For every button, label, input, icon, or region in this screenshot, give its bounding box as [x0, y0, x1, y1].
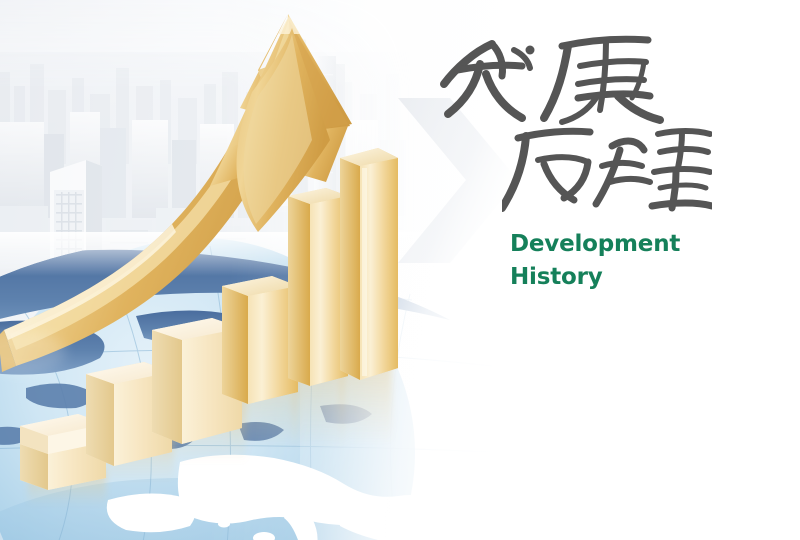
- chinese-title-line-2: [502, 120, 730, 216]
- bar-5: [288, 188, 348, 386]
- english-title-line-2: History: [510, 261, 730, 294]
- english-title: Development History: [510, 228, 730, 293]
- title-block: Development History: [430, 26, 730, 293]
- bar-6: [340, 148, 398, 380]
- english-title-line-1: Development: [510, 228, 730, 261]
- development-history-banner: Development History: [0, 0, 800, 540]
- bar-4: [222, 276, 298, 404]
- chinese-title-line-1: [430, 26, 730, 126]
